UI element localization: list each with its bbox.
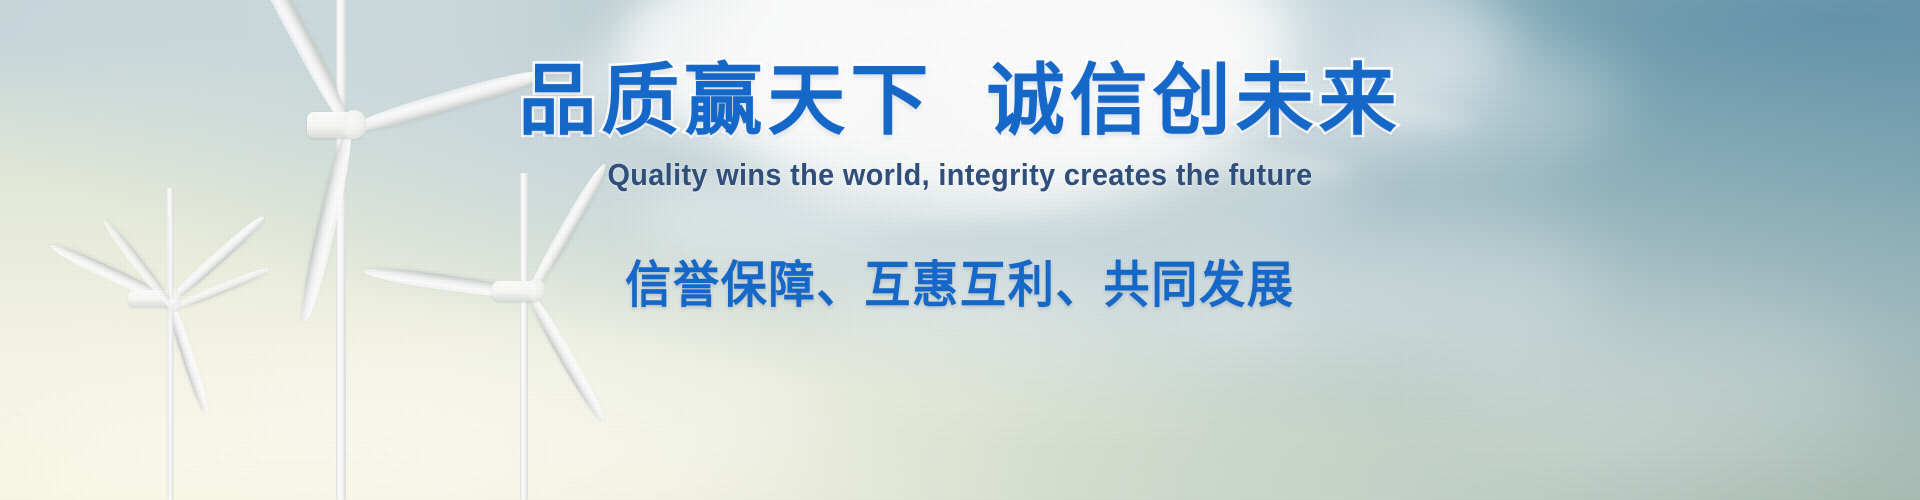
banner-subheadline-english: Quality wins the world, integrity create… — [67, 157, 1853, 193]
hero-banner: 品质赢天下 诚信创未来 Quality wins the world, inte… — [0, 0, 1920, 500]
banner-copy-block: 品质赢天下 诚信创未来 Quality wins the world, inte… — [0, 60, 1920, 317]
banner-tagline: 信誉保障、互惠互利、共同发展 — [77, 245, 1843, 317]
banner-headline: 品质赢天下 诚信创未来 — [0, 60, 1920, 141]
